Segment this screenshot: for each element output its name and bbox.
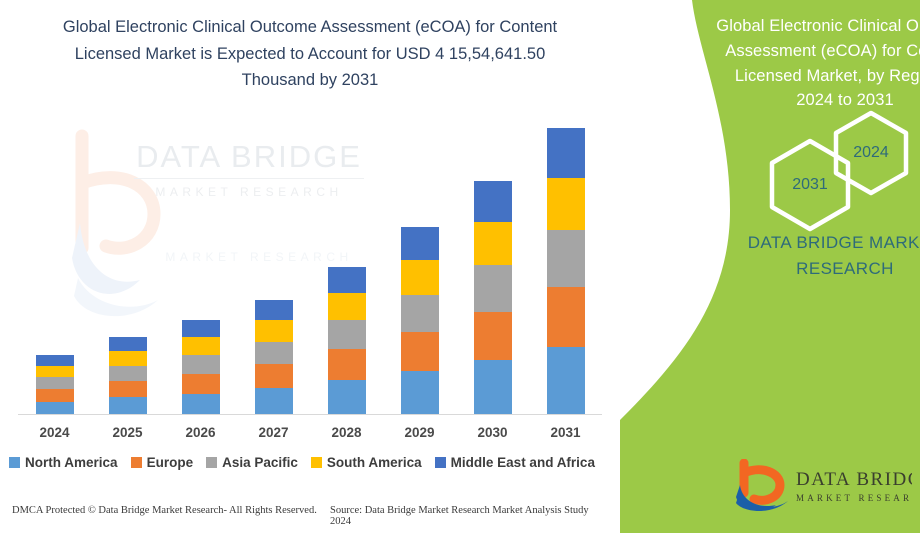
bar-segment[interactable] [109,397,147,414]
bar-segment[interactable] [255,320,293,341]
bar-2029[interactable] [401,227,439,414]
bar-segment[interactable] [474,181,512,222]
bar-segment[interactable] [182,394,220,414]
chart-panel: Global Electronic Clinical Outcome Asses… [0,0,620,533]
bar-segment[interactable] [36,366,74,378]
bar-2027[interactable] [255,300,293,414]
legend-item-middle-east-and-africa[interactable]: Middle East and Africa [435,455,595,470]
x-tick-2025: 2025 [93,425,163,440]
bar-segment[interactable] [547,287,585,348]
data-bridge-logo: DATA BRIDGE MARKET RESEARCH [732,459,912,515]
bar-segment[interactable] [328,293,366,321]
bar-segment[interactable] [182,355,220,374]
bar-segment[interactable] [109,381,147,397]
bar-segment[interactable] [474,265,512,311]
bar-segment[interactable] [401,332,439,371]
legend-label: Asia Pacific [222,455,298,470]
bar-plot [18,120,602,415]
bar-segment[interactable] [401,295,439,332]
bar-segment[interactable] [109,351,147,366]
bar-segment[interactable] [182,320,220,337]
bar-segment[interactable] [401,260,439,295]
bar-segment[interactable] [36,389,74,401]
legend-label: South America [327,455,422,470]
x-tick-2026: 2026 [166,425,236,440]
logo-subtitle: MARKET RESEARCH [796,493,912,503]
bar-segment[interactable] [547,178,585,230]
bar-segment[interactable] [255,364,293,388]
hexagon-group: 2024 2031 [750,110,920,210]
bar-segment[interactable] [255,388,293,414]
bar-2024[interactable] [36,355,74,414]
bar-segment[interactable] [109,366,147,381]
bar-segment[interactable] [109,337,147,351]
bar-segment[interactable] [36,377,74,389]
bar-segment[interactable] [36,402,74,414]
footer-copyright: DMCA Protected © Data Bridge Market Rese… [12,505,317,516]
bar-segment[interactable] [474,222,512,266]
chart-legend: North AmericaEuropeAsia PacificSouth Ame… [0,455,604,470]
legend-item-europe[interactable]: Europe [131,455,194,470]
bar-2025[interactable] [109,337,147,414]
legend-swatch-icon [9,457,20,468]
bar-segment[interactable] [474,360,512,414]
bar-2026[interactable] [182,320,220,414]
legend-label: Europe [147,455,194,470]
infographic-root: Global Electronic Clinical Outcome Asses… [0,0,920,533]
footer-source: Source: Data Bridge Market Research Mark… [330,505,604,527]
bar-segment[interactable] [328,380,366,414]
x-axis: 20242025202620272028202920302031 [18,420,602,446]
bar-segment[interactable] [547,347,585,414]
logo-title: DATA BRIDGE [796,469,912,490]
legend-item-north-america[interactable]: North America [9,455,118,470]
x-tick-2029: 2029 [385,425,455,440]
axis-baseline [18,414,602,415]
side-panel-brand: DATA BRIDGE MARKET RESEARCH [715,230,920,283]
side-panel-title: Global Electronic Clinical Outcome Asses… [715,14,920,113]
bar-2030[interactable] [474,181,512,414]
legend-label: North America [25,455,118,470]
bar-segment[interactable] [182,337,220,355]
x-tick-2024: 2024 [20,425,90,440]
legend-swatch-icon [435,457,446,468]
bar-2031[interactable] [547,128,585,414]
bar-segment[interactable] [474,312,512,360]
page-title: Global Electronic Clinical Outcome Asses… [40,14,580,94]
bar-2028[interactable] [328,267,366,414]
bar-segment[interactable] [36,355,74,366]
x-tick-2031: 2031 [531,425,601,440]
legend-item-south-america[interactable]: South America [311,455,422,470]
bar-segment[interactable] [328,349,366,380]
legend-swatch-icon [131,457,142,468]
hexagon-2024-label: 2024 [853,144,889,162]
footer: DMCA Protected © Data Bridge Market Rese… [0,505,604,527]
logo-mark-icon [736,463,788,511]
bar-segment[interactable] [547,230,585,287]
bar-segment[interactable] [255,300,293,320]
brand-line-2: RESEARCH [715,256,920,282]
hexagon-2031-label: 2031 [792,176,828,194]
bar-segment[interactable] [401,371,439,414]
x-tick-2030: 2030 [458,425,528,440]
bar-segment[interactable] [255,342,293,364]
legend-swatch-icon [206,457,217,468]
legend-item-asia-pacific[interactable]: Asia Pacific [206,455,298,470]
hexagon-2031: 2031 [767,138,853,232]
green-side-panel: Global Electronic Clinical Outcome Asses… [620,0,920,533]
legend-label: Middle East and Africa [451,455,595,470]
x-tick-2028: 2028 [312,425,382,440]
legend-swatch-icon [311,457,322,468]
bar-segment[interactable] [401,227,439,260]
bar-segment[interactable] [182,374,220,394]
bar-segment[interactable] [328,267,366,293]
x-tick-2027: 2027 [239,425,309,440]
bar-segment[interactable] [328,320,366,349]
bar-segment[interactable] [547,128,585,178]
brand-line-1: DATA BRIDGE MARKET [715,230,920,256]
